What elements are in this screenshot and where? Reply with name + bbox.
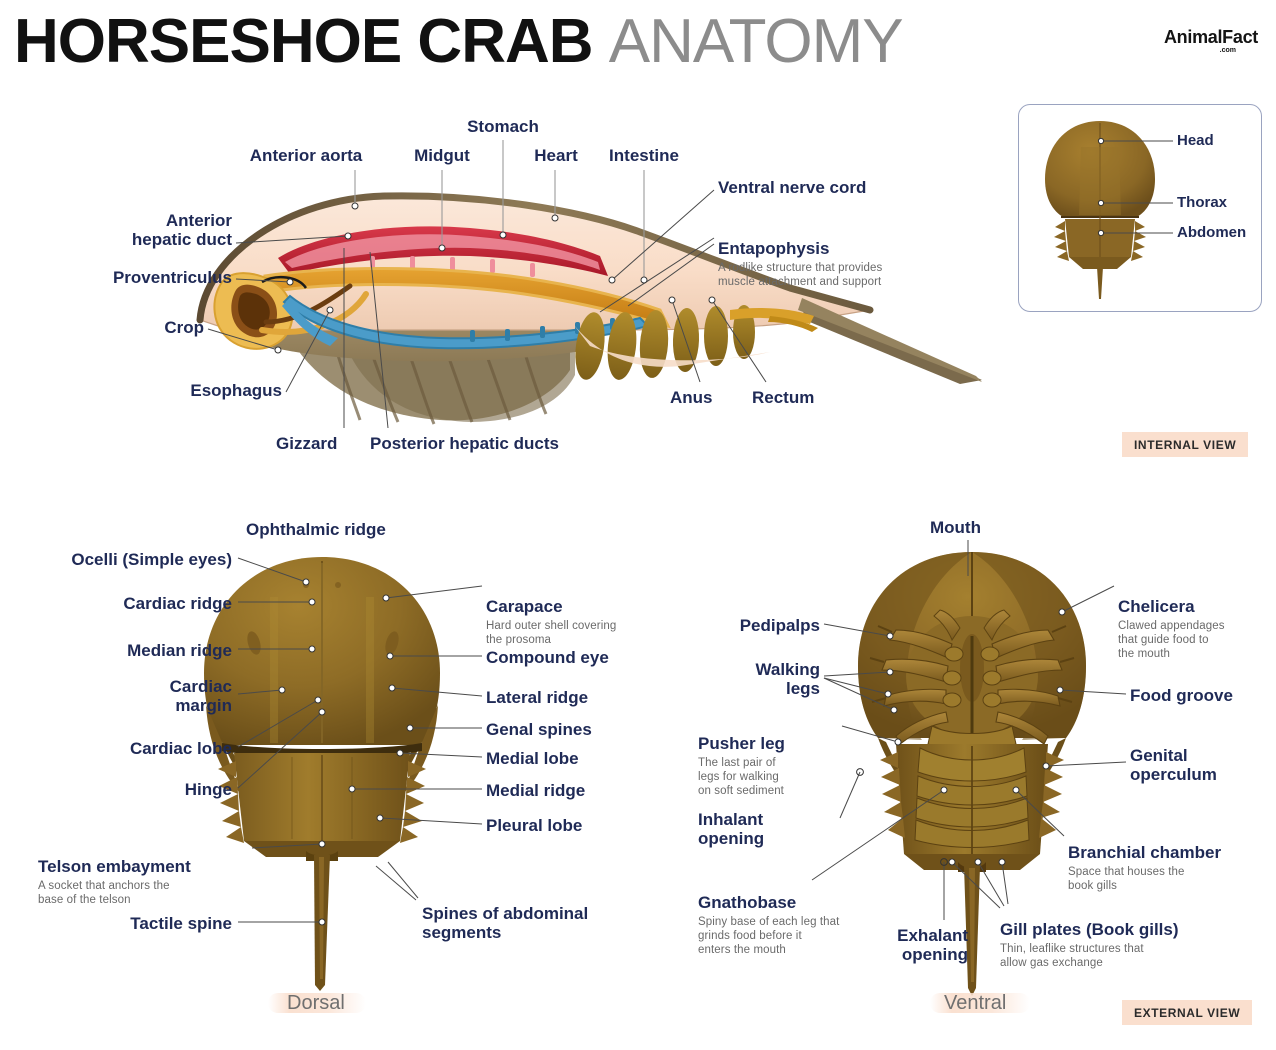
label-median-ridge: Median ridge [10,641,232,660]
label-cardiac-lobe: Cardiac lobe [10,739,232,758]
label-pusher-leg-title: Pusher leg [698,734,785,753]
label-esophagus: Esophagus [120,381,282,400]
label-telson-embayment-title: Telson embayment [38,857,191,876]
whole-animal-inset: Head Thorax Abdomen [1018,104,1262,312]
label-carapace-title: Carapace [486,597,563,616]
label-branchial-chamber-desc: Space that houses the book gills [1068,865,1268,893]
label-gill-plates-desc: Thin, leaflike structures that allow gas… [1000,942,1240,970]
label-gnathobase-title: Gnathobase [698,893,796,912]
caption-ventral: Ventral [944,992,1006,1015]
label-branchial-chamber: Branchial chamber Space that houses the … [1068,824,1268,912]
logo-name: AnimalFact [1164,28,1258,46]
label-chelicera: Chelicera Clawed appendages that guide f… [1118,578,1276,680]
label-branchial-chamber-title: Branchial chamber [1068,843,1221,862]
label-entapophysis: Entapophysis A rodlike structure that pr… [718,220,968,308]
page-title: HORSESHOE CRAB ANATOMY [14,6,903,77]
label-anterior-aorta: Anterior aorta [238,146,374,165]
label-medial-lobe: Medial lobe [486,749,579,768]
label-medial-ridge: Medial ridge [486,781,585,800]
label-gill-plates: Gill plates (Book gills) Thin, leaflike … [1000,901,1240,989]
infographic-canvas: HORSESHOE CRAB ANATOMY AnimalFact .com [0,0,1276,1050]
label-pleural-lobe: Pleural lobe [486,816,582,835]
animalfact-logo[interactable]: AnimalFact .com [1164,28,1258,54]
label-chelicera-title: Chelicera [1118,597,1195,616]
label-pusher-leg: Pusher leg The last pair of legs for wal… [698,715,838,817]
label-proventriculus: Proventriculus [50,268,232,287]
title-primary: HORSESHOE CRAB [14,7,609,76]
caption-dorsal: Dorsal [287,992,345,1015]
label-lateral-ridge: Lateral ridge [486,688,588,707]
label-genital-operculum: Genital operculum [1130,746,1270,784]
label-cardiac-margin: Cardiac margin [10,677,232,715]
label-walking-legs: Walking legs [680,660,820,698]
dorsal-crab-illustration [196,555,448,1005]
label-intestine: Intestine [588,146,700,165]
label-ophthalmic-ridge: Ophthalmic ridge [246,520,386,539]
title-secondary: ANATOMY [609,7,903,76]
label-midgut: Midgut [394,146,490,165]
label-entapophysis-desc: A rodlike structure that provides muscle… [718,261,968,289]
label-ventral-nerve-cord: Ventral nerve cord [718,178,866,197]
label-spines-of-abdominal-segments: Spines of abdominal segments [422,904,642,942]
label-genal-spines: Genal spines [486,720,592,739]
label-pedipalps: Pedipalps [680,616,820,635]
label-hinge: Hinge [10,780,232,799]
label-rectum: Rectum [752,388,814,407]
label-chelicera-desc: Clawed appendages that guide food to the… [1118,619,1276,661]
badge-external-view: EXTERNAL VIEW [1122,1000,1252,1025]
label-exhalant-opening: Exhalant opening [848,926,968,964]
label-mouth: Mouth [930,518,981,537]
label-gizzard: Gizzard [276,434,337,453]
label-inhalant-opening: Inhalant opening [698,810,838,848]
logo-domain: .com [1164,47,1236,54]
label-compound-eye: Compound eye [486,648,609,667]
label-telson-embayment-desc: A socket that anchors the base of the te… [38,879,248,907]
label-ocelli: Ocelli (Simple eyes) [10,550,232,569]
label-heart: Heart [518,146,594,165]
label-gill-plates-title: Gill plates (Book gills) [1000,920,1179,939]
badge-internal-view: INTERNAL VIEW [1122,432,1248,457]
label-carapace-desc: Hard outer shell covering the prosoma [486,619,676,647]
label-anterior-hepatic-duct: Anterior hepatic duct [60,211,232,249]
label-stomach: Stomach [442,117,564,136]
label-crop: Crop [94,318,204,337]
inset-leader-lines [1019,105,1263,313]
label-telson-embayment: Telson embayment A socket that anchors t… [38,838,248,926]
label-posterior-hepatic-ducts: Posterior hepatic ducts [370,434,559,453]
label-entapophysis-title: Entapophysis [718,239,829,258]
label-anus: Anus [670,388,713,407]
label-food-groove: Food groove [1130,686,1233,705]
label-pusher-leg-desc: The last pair of legs for walking on sof… [698,756,838,798]
label-cardiac-ridge: Cardiac ridge [10,594,232,613]
label-tactile-spine: Tactile spine [40,914,232,933]
